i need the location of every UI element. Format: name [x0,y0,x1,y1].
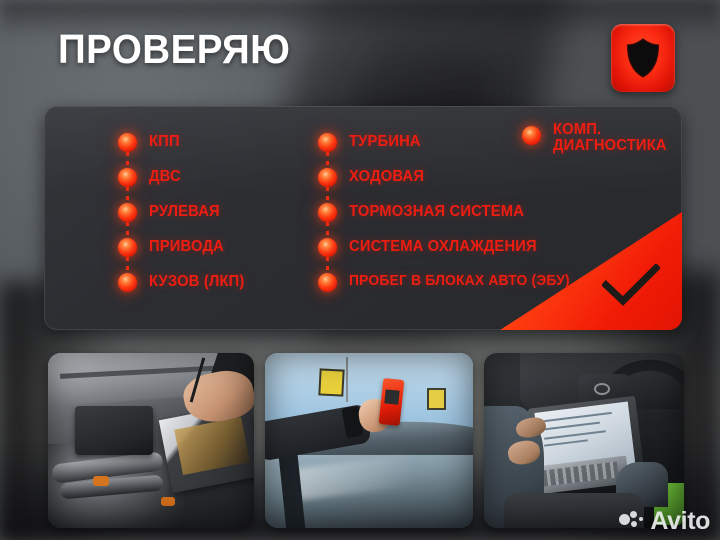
checklist-panel: КПП ДВС РУЛЕВАЯ ПРИВОДА КУЗОВ (ЛКП) [44,106,682,330]
list-item[interactable]: ПРОБЕГ В БЛОКАХ АВТО (ЭБУ) [318,271,581,293]
list-item-label: ПРОБЕГ В БЛОКАХ АВТО (ЭБУ) [349,274,570,289]
list-item[interactable]: ДВС [118,166,182,188]
promo-card: ПРОВЕРЯЮ КПП ДВС [0,0,720,540]
bullet-icon [318,203,337,222]
bullet-icon [522,126,541,145]
bullet-icon [318,238,337,257]
list-item[interactable]: ПРИВОДА [118,236,228,258]
page-title: ПРОВЕРЯЮ [58,29,290,70]
list-item[interactable]: СИСТЕМА ОХЛАЖДЕНИЯ [318,236,547,258]
list-item-label: ТУРБИНА [349,134,421,150]
list-item[interactable]: КПП [118,131,181,153]
list-item-label: ПРИВОДА [149,239,224,255]
list-item-label: СИСТЕМА ОХЛАЖДЕНИЯ [349,239,537,255]
bullet-icon [318,168,337,187]
list-item-label-line2: ДИАГНОСТИКА [553,138,667,154]
avito-watermark: Avito [619,509,710,534]
avito-logo-icon [619,511,645,533]
bullet-icon [118,133,137,152]
list-item[interactable]: ТУРБИНА [318,131,425,153]
photo-laptop-diagnostics[interactable] [484,353,684,528]
bullet-icon [118,203,137,222]
photo-paint-thickness-gauge[interactable] [265,353,473,528]
list-item-label: ХОДОВАЯ [349,169,424,185]
list-item-label-line1: КОМП. [553,122,667,138]
list-item[interactable]: ХОДОВАЯ [318,166,428,188]
list-item[interactable]: ТОРМОЗНАЯ СИСТЕМА [318,201,533,223]
list-item-label: РУЛЕВАЯ [149,204,220,220]
bullet-icon [118,273,137,292]
list-item-label: КУЗОВ (ЛКП) [149,274,245,290]
bullet-icon [318,273,337,292]
shield-icon [625,37,661,79]
list-item[interactable]: КОМП. ДИАГНОСТИКА [522,122,673,144]
avito-wordmark: Avito [650,509,710,534]
list-item-label: ДВС [149,169,181,185]
list-item[interactable]: КУЗОВ (ЛКП) [118,271,250,293]
bullet-icon [118,238,137,257]
checkmark-icon [602,264,660,306]
list-item-label: ТОРМОЗНАЯ СИСТЕМА [349,204,524,220]
list-item[interactable]: РУЛЕВАЯ [118,201,224,223]
list-item-label: КПП [149,134,180,150]
bullet-icon [318,133,337,152]
bullet-icon [118,168,137,187]
shield-badge [611,24,675,92]
photo-engine-bay-inspection[interactable] [48,353,254,528]
